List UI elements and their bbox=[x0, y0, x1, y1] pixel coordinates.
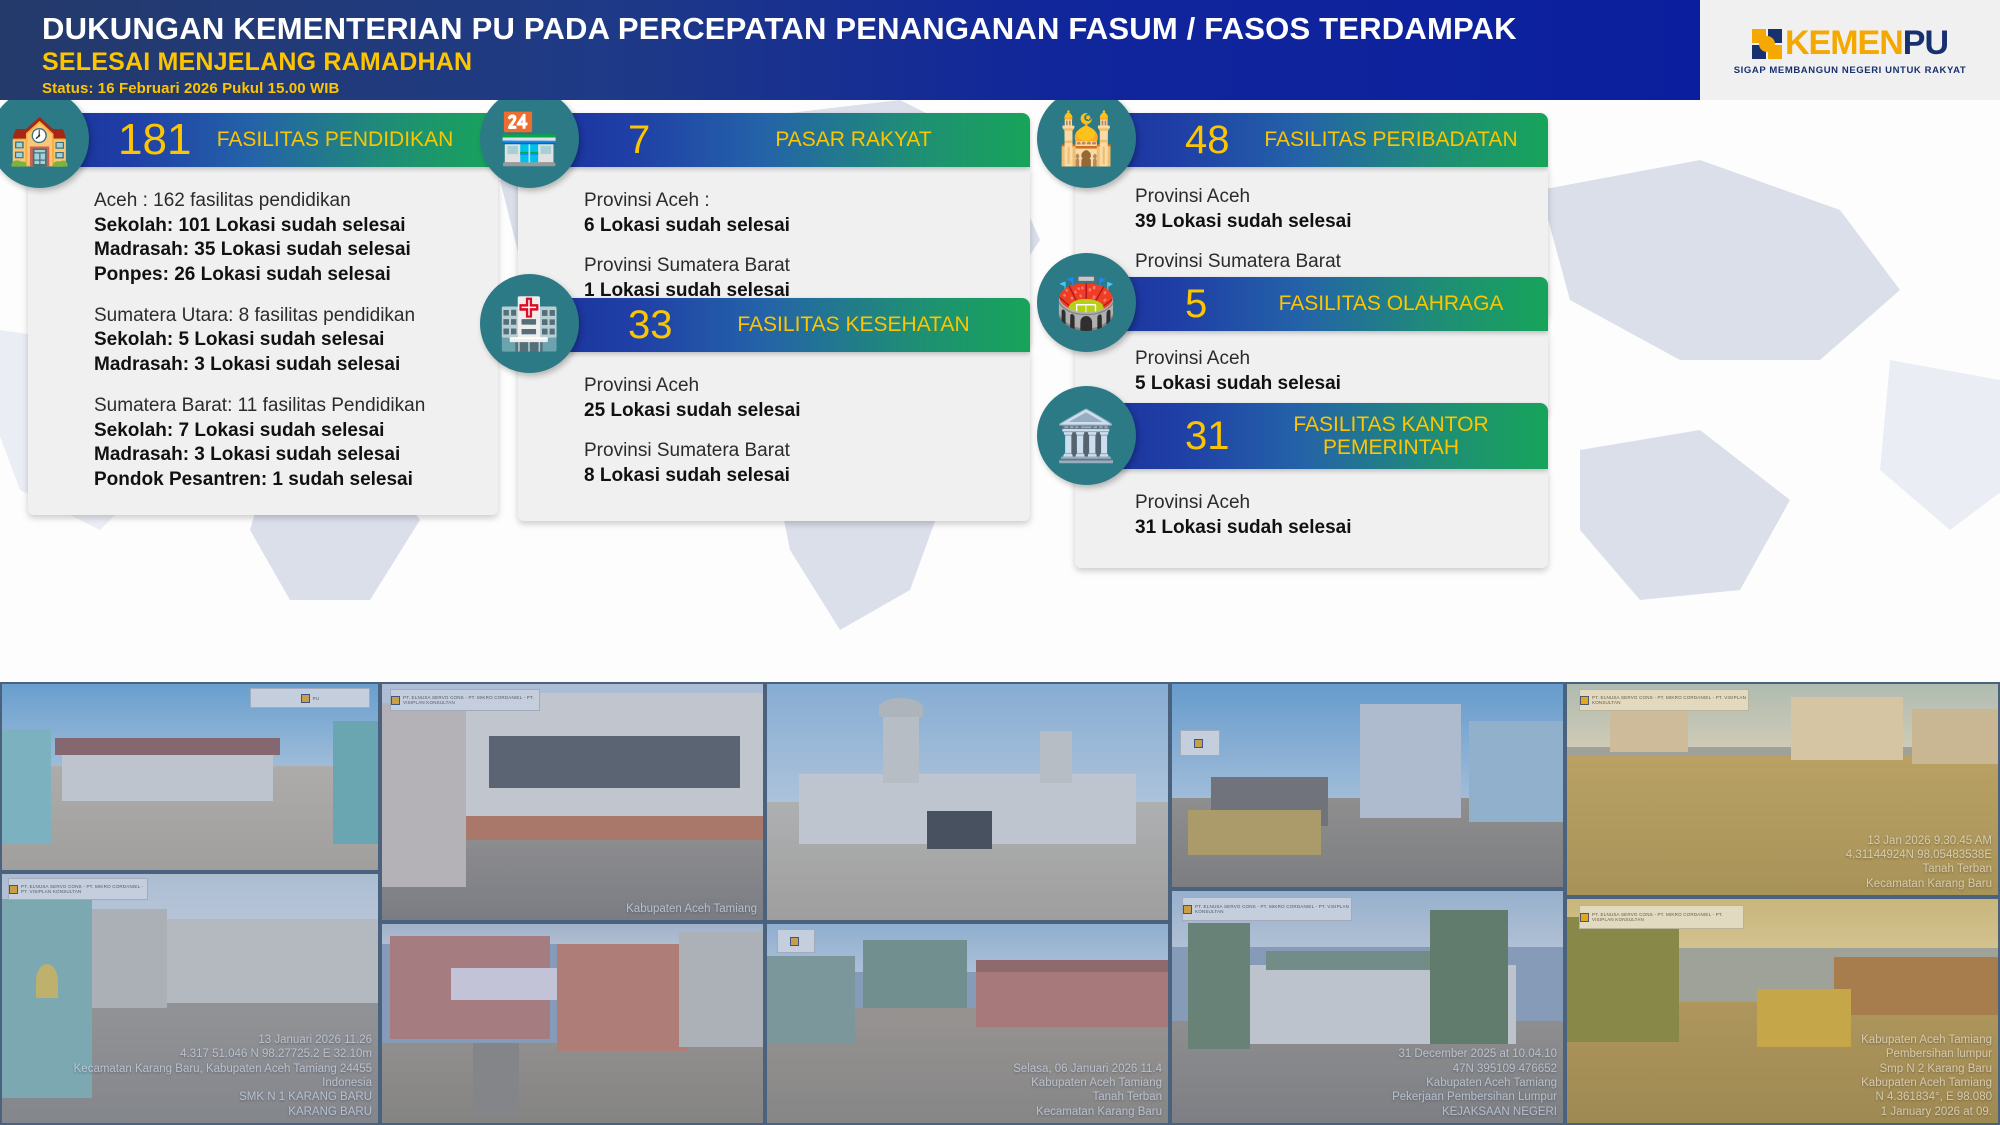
card-count: 5 bbox=[1185, 284, 1207, 324]
card-title: FASILITAS OLAHRAGA bbox=[1260, 292, 1522, 315]
detail-line: Pondok Pesantren: 1 sudah selesai bbox=[94, 468, 472, 493]
card-header: 🏫 181 FASILITAS PENDIDIKAN bbox=[28, 113, 498, 167]
photo-sign-text: PU bbox=[313, 696, 320, 701]
detail-block: Aceh : 162 fasilitas pendidikan Sekolah:… bbox=[94, 189, 472, 288]
card-header: 🏟️ 5 FASILITAS OLAHRAGA bbox=[1075, 277, 1548, 331]
gallery-photo[interactable]: PT. ELNUSA SERVO CONS - PT. MIKRO CORDAN… bbox=[380, 682, 765, 922]
card-fasilitas-kantor-pemerintah[interactable]: 🏛️ 31 FASILITAS KANTOR PEMERINTAH Provin… bbox=[1075, 403, 1548, 568]
card-body: Aceh : 162 fasilitas pendidikan Sekolah:… bbox=[28, 167, 498, 515]
detail-block: Sumatera Barat: 11 fasilitas Pendidikan … bbox=[94, 394, 472, 493]
detail-line: Provinsi Sumatera Barat bbox=[584, 254, 1004, 279]
card-title: PASAR RAKYAT bbox=[703, 128, 1004, 151]
gallery-photo[interactable] bbox=[380, 922, 765, 1125]
page-header: DUKUNGAN KEMENTERIAN PU PADA PERCEPATAN … bbox=[0, 0, 1700, 100]
photo-sign-text: PT. ELNUSA SERVO CONS - PT. MIKRO CORDAN… bbox=[21, 884, 147, 894]
detail-line: Madrasah: 3 Lokasi sudah selesai bbox=[94, 353, 472, 378]
logo-kemen-text: KEMEN bbox=[1785, 24, 1903, 63]
card-title: FASILITAS KESEHATAN bbox=[703, 313, 1004, 336]
logo-pu-text: PU bbox=[1903, 24, 1948, 63]
photo-gallery: PU PT. ELNUSA SERVO CONS - PT. MIKRO COR… bbox=[0, 682, 2000, 1125]
detail-line: 31 Lokasi sudah selesai bbox=[1135, 516, 1522, 541]
gallery-photo[interactable]: PT. ELNUSA SERVO CONS - PT. MIKRO CORDAN… bbox=[1170, 889, 1565, 1125]
detail-block: Provinsi Aceh : 6 Lokasi sudah selesai bbox=[584, 189, 1004, 238]
detail-line: 39 Lokasi sudah selesai bbox=[1135, 210, 1522, 235]
card-fasilitas-pendidikan[interactable]: 🏫 181 FASILITAS PENDIDIKAN Aceh : 162 fa… bbox=[28, 113, 498, 515]
detail-line: Madrasah: 35 Lokasi sudah selesai bbox=[94, 238, 472, 263]
card-title: FASILITAS PERIBADATAN bbox=[1260, 128, 1522, 151]
hospital-icon: 🏥 bbox=[480, 274, 579, 373]
detail-line: Sekolah: 101 Lokasi sudah selesai bbox=[94, 214, 472, 239]
mosque-icon: 🕌 bbox=[1037, 89, 1136, 188]
photo-sign-text: PT. ELNUSA SERVO CONS - PT. MIKRO CORDAN… bbox=[403, 695, 539, 705]
card-count: 31 bbox=[1185, 416, 1230, 456]
detail-line: Madrasah: 3 Lokasi sudah selesai bbox=[94, 443, 472, 468]
gallery-photo[interactable] bbox=[765, 682, 1170, 922]
detail-line: Provinsi Sumatera Barat bbox=[584, 439, 1004, 464]
card-fasilitas-olahraga[interactable]: 🏟️ 5 FASILITAS OLAHRAGA Provinsi Aceh 5 … bbox=[1075, 277, 1548, 416]
detail-line: Ponpes: 26 Lokasi sudah selesai bbox=[94, 263, 472, 288]
detail-line: Sumatera Utara: 8 fasilitas pendidikan bbox=[94, 304, 472, 329]
kemenpu-logo-icon bbox=[1752, 29, 1782, 59]
page-title: DUKUNGAN KEMENTERIAN PU PADA PERCEPATAN … bbox=[42, 13, 1700, 46]
card-body: Provinsi Aceh 25 Lokasi sudah selesai Pr… bbox=[518, 352, 1030, 521]
detail-line: 5 Lokasi sudah selesai bbox=[1135, 372, 1522, 397]
photo-sign-text: PT. ELNUSA SERVO CONS - PT. MIKRO CORDAN… bbox=[1592, 912, 1743, 922]
gallery-photo[interactable]: PT. ELNUSA SERVO CONS - PT. MIKRO CORDAN… bbox=[1565, 897, 2000, 1125]
detail-block: Provinsi Aceh 39 Lokasi sudah selesai bbox=[1135, 185, 1522, 234]
detail-line: Provinsi Sumatera Barat bbox=[1135, 250, 1522, 275]
card-count: 48 bbox=[1185, 120, 1230, 160]
gallery-photo[interactable] bbox=[1170, 682, 1565, 889]
photo-caption: Kabupaten Aceh Tamiang Pembersihan lumpu… bbox=[1861, 1033, 1992, 1119]
detail-line: Provinsi Aceh bbox=[1135, 185, 1522, 210]
detail-block: Provinsi Sumatera Barat 8 Lokasi sudah s… bbox=[584, 439, 1004, 488]
stadium-icon: 🏟️ bbox=[1037, 253, 1136, 352]
government-building-icon: 🏛️ bbox=[1037, 386, 1136, 485]
detail-line: Provinsi Aceh bbox=[1135, 491, 1522, 516]
gallery-photo[interactable]: PT. ELNUSA SERVO CONS - PT. MIKRO CORDAN… bbox=[1565, 682, 2000, 897]
photo-caption: 13 Jan 2026 9.30.45 AM 4.31144924N 98.05… bbox=[1846, 834, 1992, 892]
gallery-photo[interactable]: PT. ELNUSA SERVO CONS - PT. MIKRO CORDAN… bbox=[0, 872, 380, 1125]
card-body: Provinsi Aceh 31 Lokasi sudah selesai bbox=[1075, 469, 1548, 568]
card-fasilitas-kesehatan[interactable]: 🏥 33 FASILITAS KESEHATAN Provinsi Aceh 2… bbox=[518, 298, 1030, 521]
detail-line: Provinsi Aceh bbox=[584, 374, 1004, 399]
card-header: 🏛️ 31 FASILITAS KANTOR PEMERINTAH bbox=[1075, 403, 1548, 469]
kemenpu-logo: KEMENPU SIGAP MEMBANGUN NEGERI UNTUK RAK… bbox=[1700, 0, 2000, 100]
detail-block: Provinsi Aceh 31 Lokasi sudah selesai bbox=[1135, 491, 1522, 540]
photo-caption: 13 Januari 2026 11.26 4.317 51.046 N 98.… bbox=[74, 1033, 372, 1119]
detail-line: Sumatera Barat: 11 fasilitas Pendidikan bbox=[94, 394, 472, 419]
card-header: 🏪 7 PASAR RAKYAT bbox=[518, 113, 1030, 167]
photo-sign-text: PT. ELNUSA SERVO CONS - PT. MIKRO CORDAN… bbox=[1592, 695, 1748, 705]
detail-line: Aceh : 162 fasilitas pendidikan bbox=[94, 189, 472, 214]
card-title: FASILITAS PENDIDIKAN bbox=[198, 128, 472, 151]
detail-line: Provinsi Aceh : bbox=[584, 189, 1004, 214]
card-header: 🏥 33 FASILITAS KESEHATAN bbox=[518, 298, 1030, 352]
detail-line: 25 Lokasi sudah selesai bbox=[584, 399, 1004, 424]
detail-line: Provinsi Aceh bbox=[1135, 347, 1522, 372]
card-header: 🕌 48 FASILITAS PERIBADATAN bbox=[1075, 113, 1548, 167]
gallery-photo[interactable]: Selasa, 06 Januari 2026 11.4 Kabupaten A… bbox=[765, 922, 1170, 1125]
detail-block: Provinsi Sumatera Barat 1 Lokasi sudah s… bbox=[584, 254, 1004, 303]
detail-line: 8 Lokasi sudah selesai bbox=[584, 464, 1004, 489]
market-stall-icon: 🏪 bbox=[480, 89, 579, 188]
photo-caption: 31 December 2025 at 10.04.10 47N 395109 … bbox=[1392, 1047, 1557, 1119]
logo-tagline: SIGAP MEMBANGUN NEGERI UNTUK RAKYAT bbox=[1734, 65, 1966, 76]
photo-caption: Selasa, 06 Januari 2026 11.4 Kabupaten A… bbox=[1013, 1062, 1162, 1120]
detail-block: Sumatera Utara: 8 fasilitas pendidikan S… bbox=[94, 304, 472, 378]
gallery-photo[interactable]: PU bbox=[0, 682, 380, 872]
photo-sign-text: PT. ELNUSA SERVO CONS - PT. MIKRO CORDAN… bbox=[1195, 904, 1351, 914]
card-count: 33 bbox=[628, 305, 673, 345]
detail-block: Provinsi Aceh 5 Lokasi sudah selesai bbox=[1135, 347, 1522, 396]
detail-line: Sekolah: 7 Lokasi sudah selesai bbox=[94, 419, 472, 444]
status-text: Status: 16 Februari 2026 Pukul 15.00 WIB bbox=[42, 80, 1700, 97]
detail-line: 6 Lokasi sudah selesai bbox=[584, 214, 1004, 239]
card-count: 7 bbox=[628, 120, 650, 160]
page-subtitle: SELESAI MENJELANG RAMADHAN bbox=[42, 48, 1700, 78]
card-count: 181 bbox=[118, 118, 191, 162]
photo-caption: Kabupaten Aceh Tamiang bbox=[626, 902, 757, 916]
detail-line: Sekolah: 5 Lokasi sudah selesai bbox=[94, 328, 472, 353]
card-title: FASILITAS KANTOR PEMERINTAH bbox=[1260, 413, 1522, 459]
detail-block: Provinsi Aceh 25 Lokasi sudah selesai bbox=[584, 374, 1004, 423]
